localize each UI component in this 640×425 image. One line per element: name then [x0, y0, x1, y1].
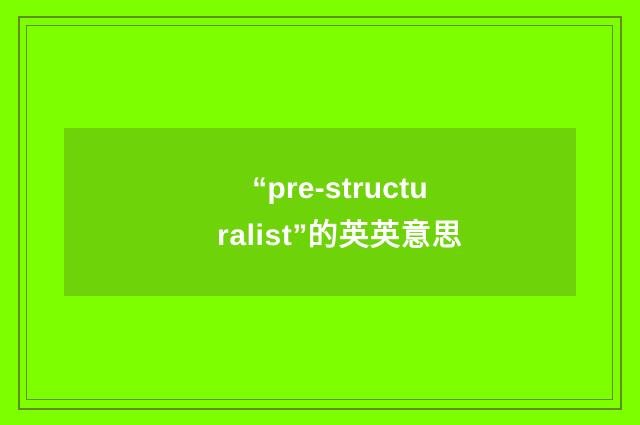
title-line-2-latin: ralist” [217, 219, 308, 252]
title-line-1: “pre-structu [104, 165, 576, 212]
title-line-2-cjk: 的英英意思 [308, 219, 463, 252]
title-line-2: ralist”的英英意思 [104, 212, 576, 259]
poster-canvas: “pre-structu ralist”的英英意思 [0, 0, 640, 425]
title-block: “pre-structu ralist”的英英意思 [64, 165, 576, 259]
title-panel: “pre-structu ralist”的英英意思 [64, 128, 576, 296]
